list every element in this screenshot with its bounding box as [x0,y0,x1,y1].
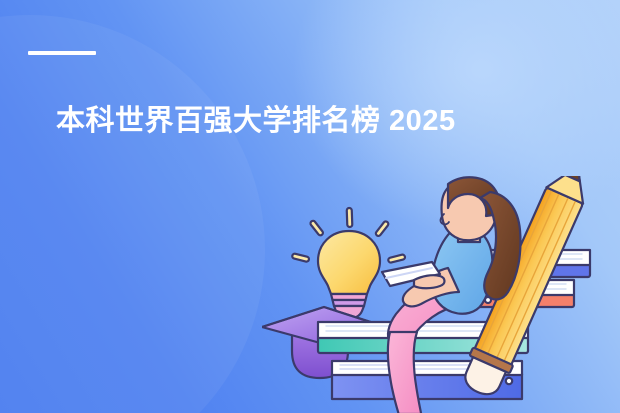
promo-banner: 本科世界百强大学排名榜 2025 [0,0,620,413]
page-title: 本科世界百强大学排名榜 2025 [56,101,456,141]
illustration [262,176,620,413]
lightbulb-icon [318,231,380,319]
title-accent-rule [28,51,96,55]
